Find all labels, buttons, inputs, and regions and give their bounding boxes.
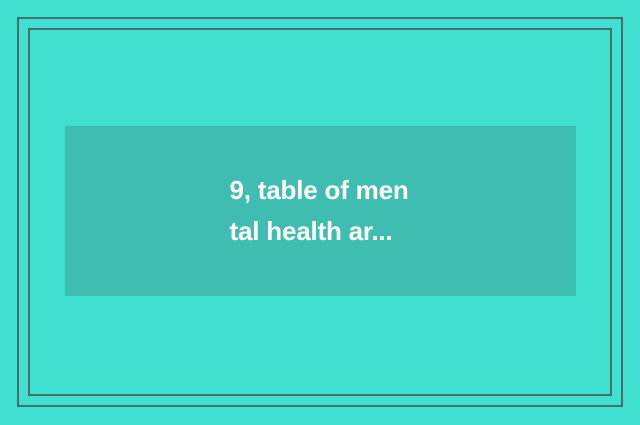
caption-line-1: 9, table of men (230, 170, 412, 211)
caption-block: 9, table of men tal health ar... (230, 170, 412, 252)
content-panel: 9, table of men tal health ar... (65, 126, 576, 296)
placeholder-card-canvas: 9, table of men tal health ar... (0, 0, 640, 425)
caption-line-2: tal health ar... (230, 211, 412, 252)
